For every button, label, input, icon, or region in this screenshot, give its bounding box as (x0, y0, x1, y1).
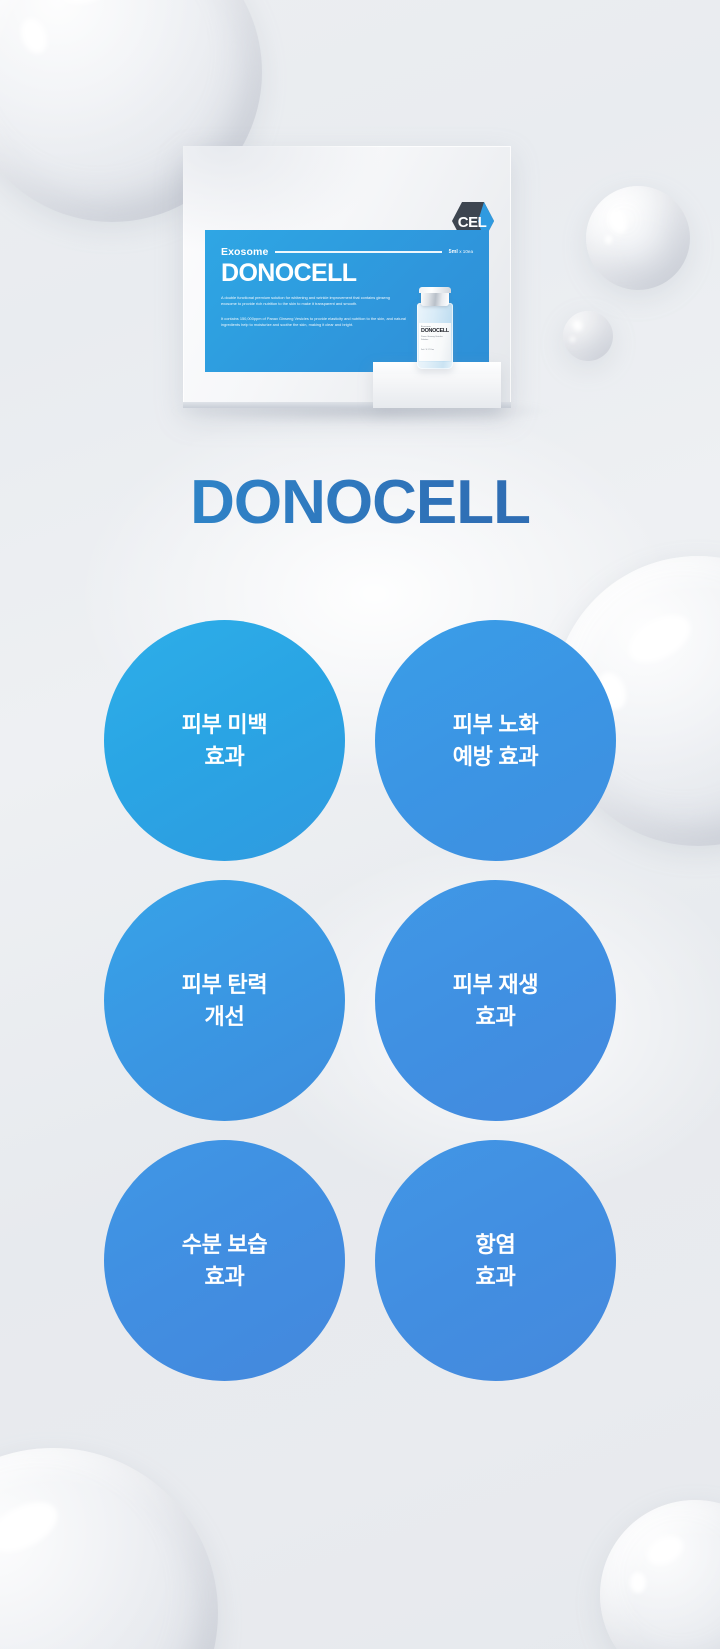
benefit-line-2: 효과 (182, 741, 268, 773)
benefit-text: 피부 미백 효과 (182, 709, 268, 773)
benefit-line-2: 효과 (182, 1261, 268, 1293)
decorative-bubble-bottom-left (0, 1448, 218, 1649)
benefit-text: 항염 효과 (476, 1229, 516, 1293)
benefit-circle-skin-whitening[interactable]: 피부 미백 효과 (104, 620, 345, 861)
hero-product-image: CEL Exosome 5ml x 10ea DONOCELL A double… (0, 0, 720, 440)
benefit-line-1: 항염 (476, 1232, 516, 1257)
benefit-circle-skin-elasticity[interactable]: 피부 탄력 개선 (104, 880, 345, 1121)
benefit-circle-anti-aging[interactable]: 피부 노화 예방 효과 (375, 620, 616, 861)
benefit-circle-anti-inflammatory[interactable]: 항염 효과 (375, 1140, 616, 1381)
benefits-row: 피부 미백 효과 피부 노화 예방 효과 (0, 620, 720, 861)
benefit-line-1: 피부 미백 (182, 712, 268, 737)
benefit-circle-moisture-hydration[interactable]: 수분 보습 효과 (104, 1140, 345, 1381)
benefits-grid: 피부 미백 효과 피부 노화 예방 효과 피부 탄력 개선 피부 (0, 620, 720, 1400)
label-volume-amount: 5ml (449, 249, 458, 255)
benefit-line-1: 피부 노화 (453, 712, 539, 737)
label-divider-rule (275, 251, 441, 253)
benefit-text: 피부 재생 효과 (453, 969, 539, 1033)
page-title: DONOCELL (0, 472, 720, 534)
benefit-line-1: 피부 탄력 (182, 972, 268, 997)
label-description-primary: A double functional premium solution for… (221, 295, 403, 307)
label-eyebrow: Exosome (221, 246, 268, 258)
svg-text:CEL: CEL (458, 214, 487, 231)
benefits-row: 피부 탄력 개선 피부 재생 효과 (0, 880, 720, 1121)
label-description-secondary: It contains 150,000ppm of Panax Ginseng … (221, 316, 409, 328)
benefit-line-2: 예방 효과 (453, 741, 539, 773)
product-promo-page: CEL Exosome 5ml x 10ea DONOCELL A double… (0, 0, 720, 1649)
bubble-highlight (642, 1531, 687, 1571)
vial-label-volume: 5ml / 0.17 fl.oz (421, 349, 449, 351)
bubble-highlight (630, 1572, 645, 1593)
vial-cap-top (419, 287, 451, 293)
benefit-line-1: 수분 보습 (182, 1232, 268, 1257)
benefit-text: 수분 보습 효과 (182, 1229, 268, 1293)
vial-label-sub: Panax Ginseng Vesicles Solution (421, 336, 449, 342)
label-top-line: Exosome 5ml x 10ea (221, 246, 473, 258)
benefit-circle-skin-regeneration[interactable]: 피부 재생 효과 (375, 880, 616, 1121)
benefit-text: 피부 노화 예방 효과 (453, 709, 539, 773)
bubble-highlight (0, 1493, 65, 1562)
bubble-body (600, 1500, 720, 1649)
label-brand-name: DONOCELL (221, 261, 473, 286)
label-volume: 5ml x 10ea (449, 249, 473, 255)
bubble-body (0, 1448, 218, 1649)
benefit-line-2: 효과 (453, 1001, 539, 1033)
benefit-text: 피부 탄력 개선 (182, 969, 268, 1033)
vial-label-brand: DONOCELL (421, 329, 449, 334)
decorative-bubble-bottom-right (600, 1500, 720, 1649)
benefit-line-2: 개선 (182, 1001, 268, 1033)
product-vial: Exosome DONOCELL Panax Ginseng Vesicles … (416, 287, 454, 369)
benefit-line-2: 효과 (476, 1261, 516, 1293)
vial-label: Exosome DONOCELL Panax Ginseng Vesicles … (419, 323, 451, 361)
benefit-line-1: 피부 재생 (453, 972, 539, 997)
benefits-row: 수분 보습 효과 항염 효과 (0, 1140, 720, 1381)
label-volume-count: x 10ea (459, 249, 473, 254)
